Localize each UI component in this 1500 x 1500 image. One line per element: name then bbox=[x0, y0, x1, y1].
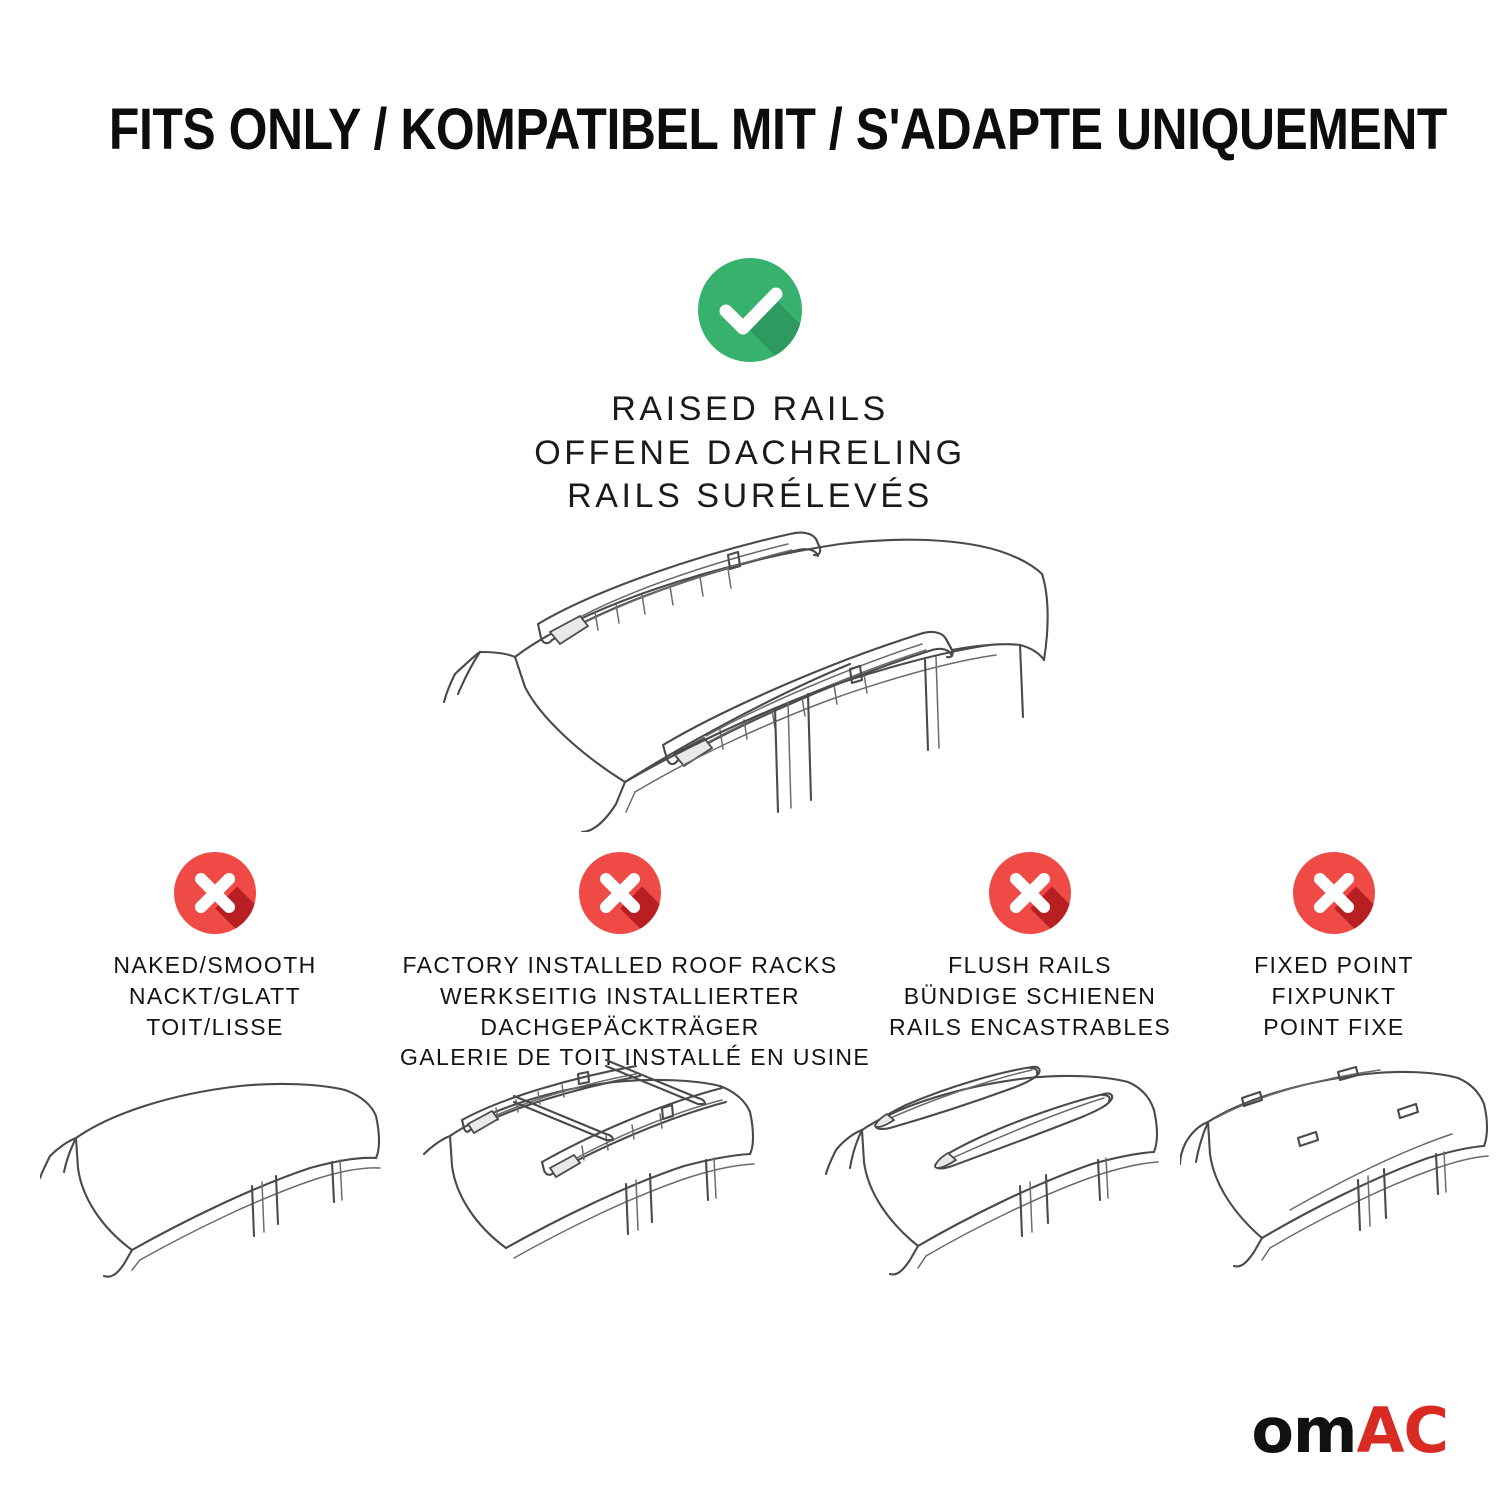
page-title-text: FITS ONLY / KOMPATIBEL MIT / S'ADAPTE UN… bbox=[109, 96, 1447, 163]
omac-logo-om: om bbox=[1251, 1394, 1356, 1467]
label-line-3: RAILS ENCASTRABLES bbox=[862, 1012, 1198, 1043]
flush-rails-drawing bbox=[820, 1058, 1180, 1278]
car-roof-naked-smooth-illustration bbox=[40, 1058, 390, 1283]
factory-racks-drawing bbox=[410, 1058, 770, 1278]
compatible-label-line-2: OFFENE DACHRELING bbox=[0, 432, 1500, 476]
x-mark-glyph bbox=[1293, 852, 1375, 934]
compatible-label: RAISED RAILS OFFENE DACHRELING RAILS SUR… bbox=[0, 388, 1500, 519]
label-line-3: TOIT/LISSE bbox=[50, 1012, 380, 1043]
car-roof-fixed-point-illustration bbox=[1180, 1058, 1500, 1283]
x-mark-glyph bbox=[989, 852, 1071, 934]
page-title: FITS ONLY / KOMPATIBEL MIT / S'ADAPTE UN… bbox=[0, 96, 1500, 163]
car-roof-flush-rails-illustration bbox=[820, 1058, 1180, 1283]
check-mark-glyph bbox=[698, 258, 802, 362]
x-circle-icon bbox=[1293, 852, 1375, 934]
label-line-1: FLUSH RAILS bbox=[862, 950, 1198, 981]
label-line-2: FIXPUNKT bbox=[1198, 981, 1470, 1012]
incompatible-label-factory-roof-racks: FACTORY INSTALLED ROOF RACKS WERKSEITIG … bbox=[400, 950, 840, 1073]
x-mark-glyph bbox=[174, 852, 256, 934]
raised-rails-drawing bbox=[420, 512, 1080, 832]
omac-logo: omAC bbox=[1251, 1400, 1448, 1462]
check-circle-icon bbox=[698, 258, 802, 362]
x-circle-icon bbox=[174, 852, 256, 934]
incompatible-column-fixed-point: FIXED POINT FIXPUNKT POINT FIXE bbox=[1198, 852, 1470, 1042]
label-line-2: NACKT/GLATT bbox=[50, 981, 380, 1012]
fixed-point-drawing bbox=[1180, 1058, 1500, 1278]
x-circle-icon bbox=[579, 852, 661, 934]
label-line-2: BÜNDIGE SCHIENEN bbox=[862, 981, 1198, 1012]
omac-logo-ac: AC bbox=[1357, 1394, 1448, 1467]
car-roof-factory-roof-racks-illustration bbox=[410, 1058, 770, 1283]
compatible-section: RAISED RAILS OFFENE DACHRELING RAILS SUR… bbox=[0, 258, 1500, 519]
incompatible-column-naked-smooth: NAKED/SMOOTH NACKT/GLATT TOIT/LISSE bbox=[50, 852, 380, 1042]
label-line-2: WERKSEITIG INSTALLIERTER bbox=[400, 981, 840, 1012]
incompatible-column-factory-roof-racks: FACTORY INSTALLED ROOF RACKS WERKSEITIG … bbox=[400, 852, 840, 1073]
label-line-1: NAKED/SMOOTH bbox=[50, 950, 380, 981]
x-circle-icon bbox=[989, 852, 1071, 934]
incompatible-label-fixed-point: FIXED POINT FIXPUNKT POINT FIXE bbox=[1198, 950, 1470, 1042]
label-line-1: FIXED POINT bbox=[1198, 950, 1470, 981]
incompatible-label-naked-smooth: NAKED/SMOOTH NACKT/GLATT TOIT/LISSE bbox=[50, 950, 380, 1042]
x-mark-glyph bbox=[579, 852, 661, 934]
naked-roof-drawing bbox=[40, 1058, 390, 1278]
incompatible-column-flush-rails: FLUSH RAILS BÜNDIGE SCHIENEN RAILS ENCAS… bbox=[862, 852, 1198, 1042]
label-line-3: POINT FIXE bbox=[1198, 1012, 1470, 1043]
car-roof-with-raised-rails-illustration bbox=[420, 512, 1080, 832]
compatible-label-line-1: RAISED RAILS bbox=[0, 388, 1500, 432]
label-line-1: FACTORY INSTALLED ROOF RACKS bbox=[400, 950, 840, 981]
incompatible-label-flush-rails: FLUSH RAILS BÜNDIGE SCHIENEN RAILS ENCAS… bbox=[862, 950, 1198, 1042]
label-line-3: DACHGEPÄCKTRÄGER bbox=[400, 1012, 840, 1043]
